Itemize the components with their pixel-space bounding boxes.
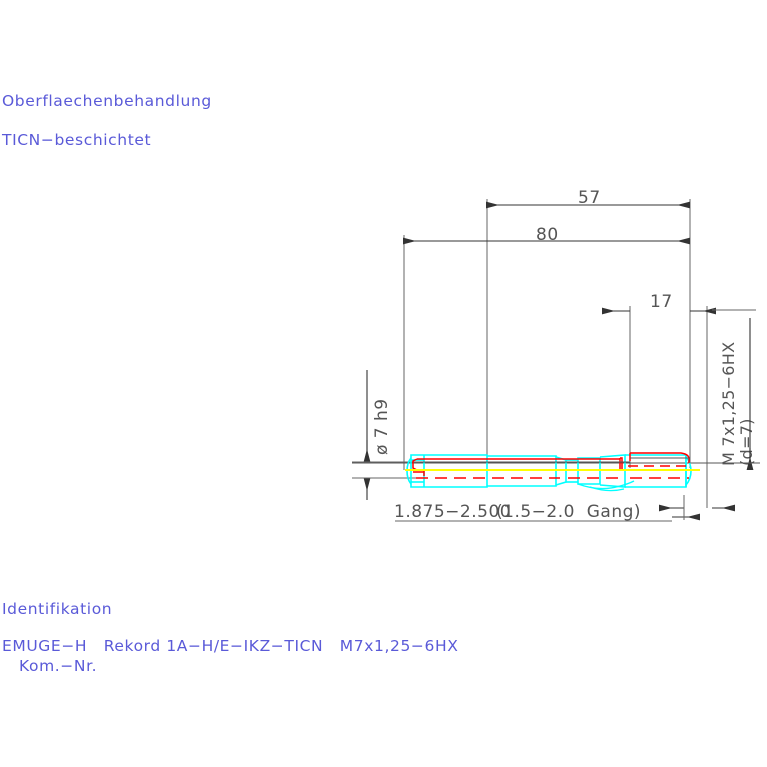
cad-drawing-canvas: Oberflaechenbehandlung TICN−beschichtet … xyxy=(0,0,767,767)
dimension-line-shank-diameter xyxy=(352,370,420,500)
part-outline-cyan xyxy=(407,455,691,491)
dimension-line-thread-spec xyxy=(712,310,756,470)
drawing-geometry xyxy=(0,0,767,767)
dimension-line-square-range xyxy=(395,495,735,521)
